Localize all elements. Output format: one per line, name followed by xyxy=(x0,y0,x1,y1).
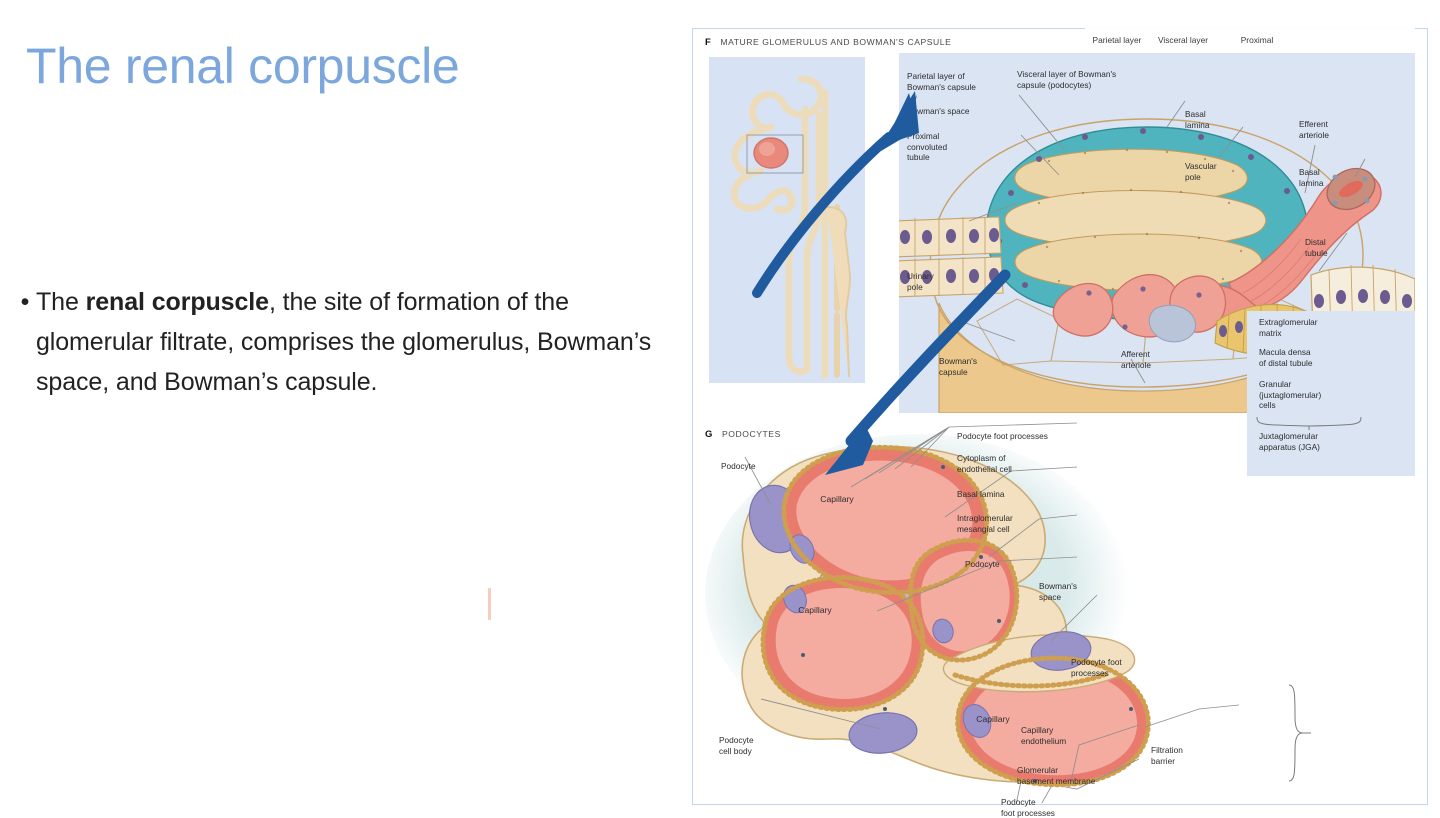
label-capillary-2: Capillary xyxy=(785,605,845,616)
panel-g-podocytes: GPODOCYTES xyxy=(699,409,1423,803)
panel-f-title: MATURE GLOMERULUS AND BOWMAN'S CAPSULE xyxy=(720,37,951,47)
label-capillary-3: Capillary xyxy=(963,714,1023,725)
label-basal-lamina: Basal lamina xyxy=(957,489,1049,500)
label-bowmans-capsule: Bowman's capsule xyxy=(939,356,1009,377)
label-podocyte-left: Podocyte xyxy=(721,461,783,472)
label-podocyte-foot-processes-right: Podocyte foot processes xyxy=(1071,657,1145,678)
bullet-lead: The xyxy=(36,288,86,316)
label-intraglomerular-mesangial-cell: Intraglomerular mesangial cell xyxy=(957,513,1049,534)
label-visceral-layer: Visceral layer of Bowman's capsule (podo… xyxy=(1017,69,1177,90)
label-basal-lamina-right: Basal lamina xyxy=(1299,167,1355,188)
truncation-fade xyxy=(1085,23,1415,34)
label-parietal-layer: Parietal layer of Bowman's capsule xyxy=(907,71,1003,92)
label-podocyte-cell-body: Podocyte cell body xyxy=(719,735,781,756)
label-glomerular-basement-membrane: Glomerular basement membrane xyxy=(1017,765,1145,786)
nephron-orientation-inset xyxy=(709,57,865,383)
trunc-label-visceral: Visceral layer xyxy=(1151,35,1215,46)
label-extraglomerular-matrix: Extraglomerular matrix xyxy=(1259,317,1363,338)
label-bowmans-space-g: Bowman's space xyxy=(1039,581,1101,602)
page-title: The renal corpuscle xyxy=(26,38,646,94)
label-granular-cells: Granular (juxtaglomerular) cells xyxy=(1259,379,1363,411)
label-podocyte-foot-processes-bottom: Podocyte foot processes xyxy=(1001,797,1089,818)
label-vascular-pole: Vascular pole xyxy=(1185,161,1241,182)
trunc-label-parietal: Parietal layer xyxy=(1085,35,1149,46)
label-podocyte-right: Podocyte xyxy=(965,559,1027,570)
bullet-bold-term: renal corpuscle xyxy=(86,288,269,316)
bullet-text: The renal corpuscle, the site of formati… xyxy=(36,282,654,402)
nephron-diagram-icon xyxy=(709,57,865,383)
label-macula-densa: Macula densa of distal tubule xyxy=(1259,347,1363,368)
label-proximal-convoluted-tubule: Proximal convoluted tubule xyxy=(907,131,985,163)
list-item: • The renal corpuscle, the site of forma… xyxy=(14,282,654,402)
figure-frame: FMATURE GLOMERULUS AND BOWMAN'S CAPSULE … xyxy=(692,28,1428,805)
label-urinary-pole: Urinary pole xyxy=(907,271,967,292)
label-efferent-arteriole: Efferent arteriole xyxy=(1299,119,1359,140)
text-cursor xyxy=(488,588,491,620)
label-capillary-endothelium: Capillary endothelium xyxy=(1021,725,1099,746)
label-afferent-arteriole: Afferent arteriole xyxy=(1121,349,1183,370)
bullet-marker: • xyxy=(14,282,36,322)
label-capillary-1: Capillary xyxy=(807,494,867,505)
label-basal-lamina-top: Basal lamina xyxy=(1185,109,1241,130)
label-podocyte-foot-processes-top: Podocyte foot processes xyxy=(957,431,1097,442)
label-bowmans-space: Bowman's space xyxy=(907,106,1003,117)
truncated-top-labels: Parietal layer Visceral layer Proximal xyxy=(1085,23,1415,53)
bullet-list: • The renal corpuscle, the site of forma… xyxy=(14,282,654,402)
slide-canvas: The renal corpuscle • The renal corpuscl… xyxy=(0,0,1440,817)
label-filtration-barrier: Filtration barrier xyxy=(1151,745,1213,766)
label-distal-tubule: Distal tubule xyxy=(1305,237,1361,258)
panel-f-heading: FMATURE GLOMERULUS AND BOWMAN'S CAPSULE xyxy=(705,37,951,48)
panel-f-letter: F xyxy=(705,37,711,48)
trunc-label-proximal: Proximal xyxy=(1225,35,1289,46)
label-cytoplasm-endothelial-cell: Cytoplasm of endothelial cell xyxy=(957,453,1049,474)
